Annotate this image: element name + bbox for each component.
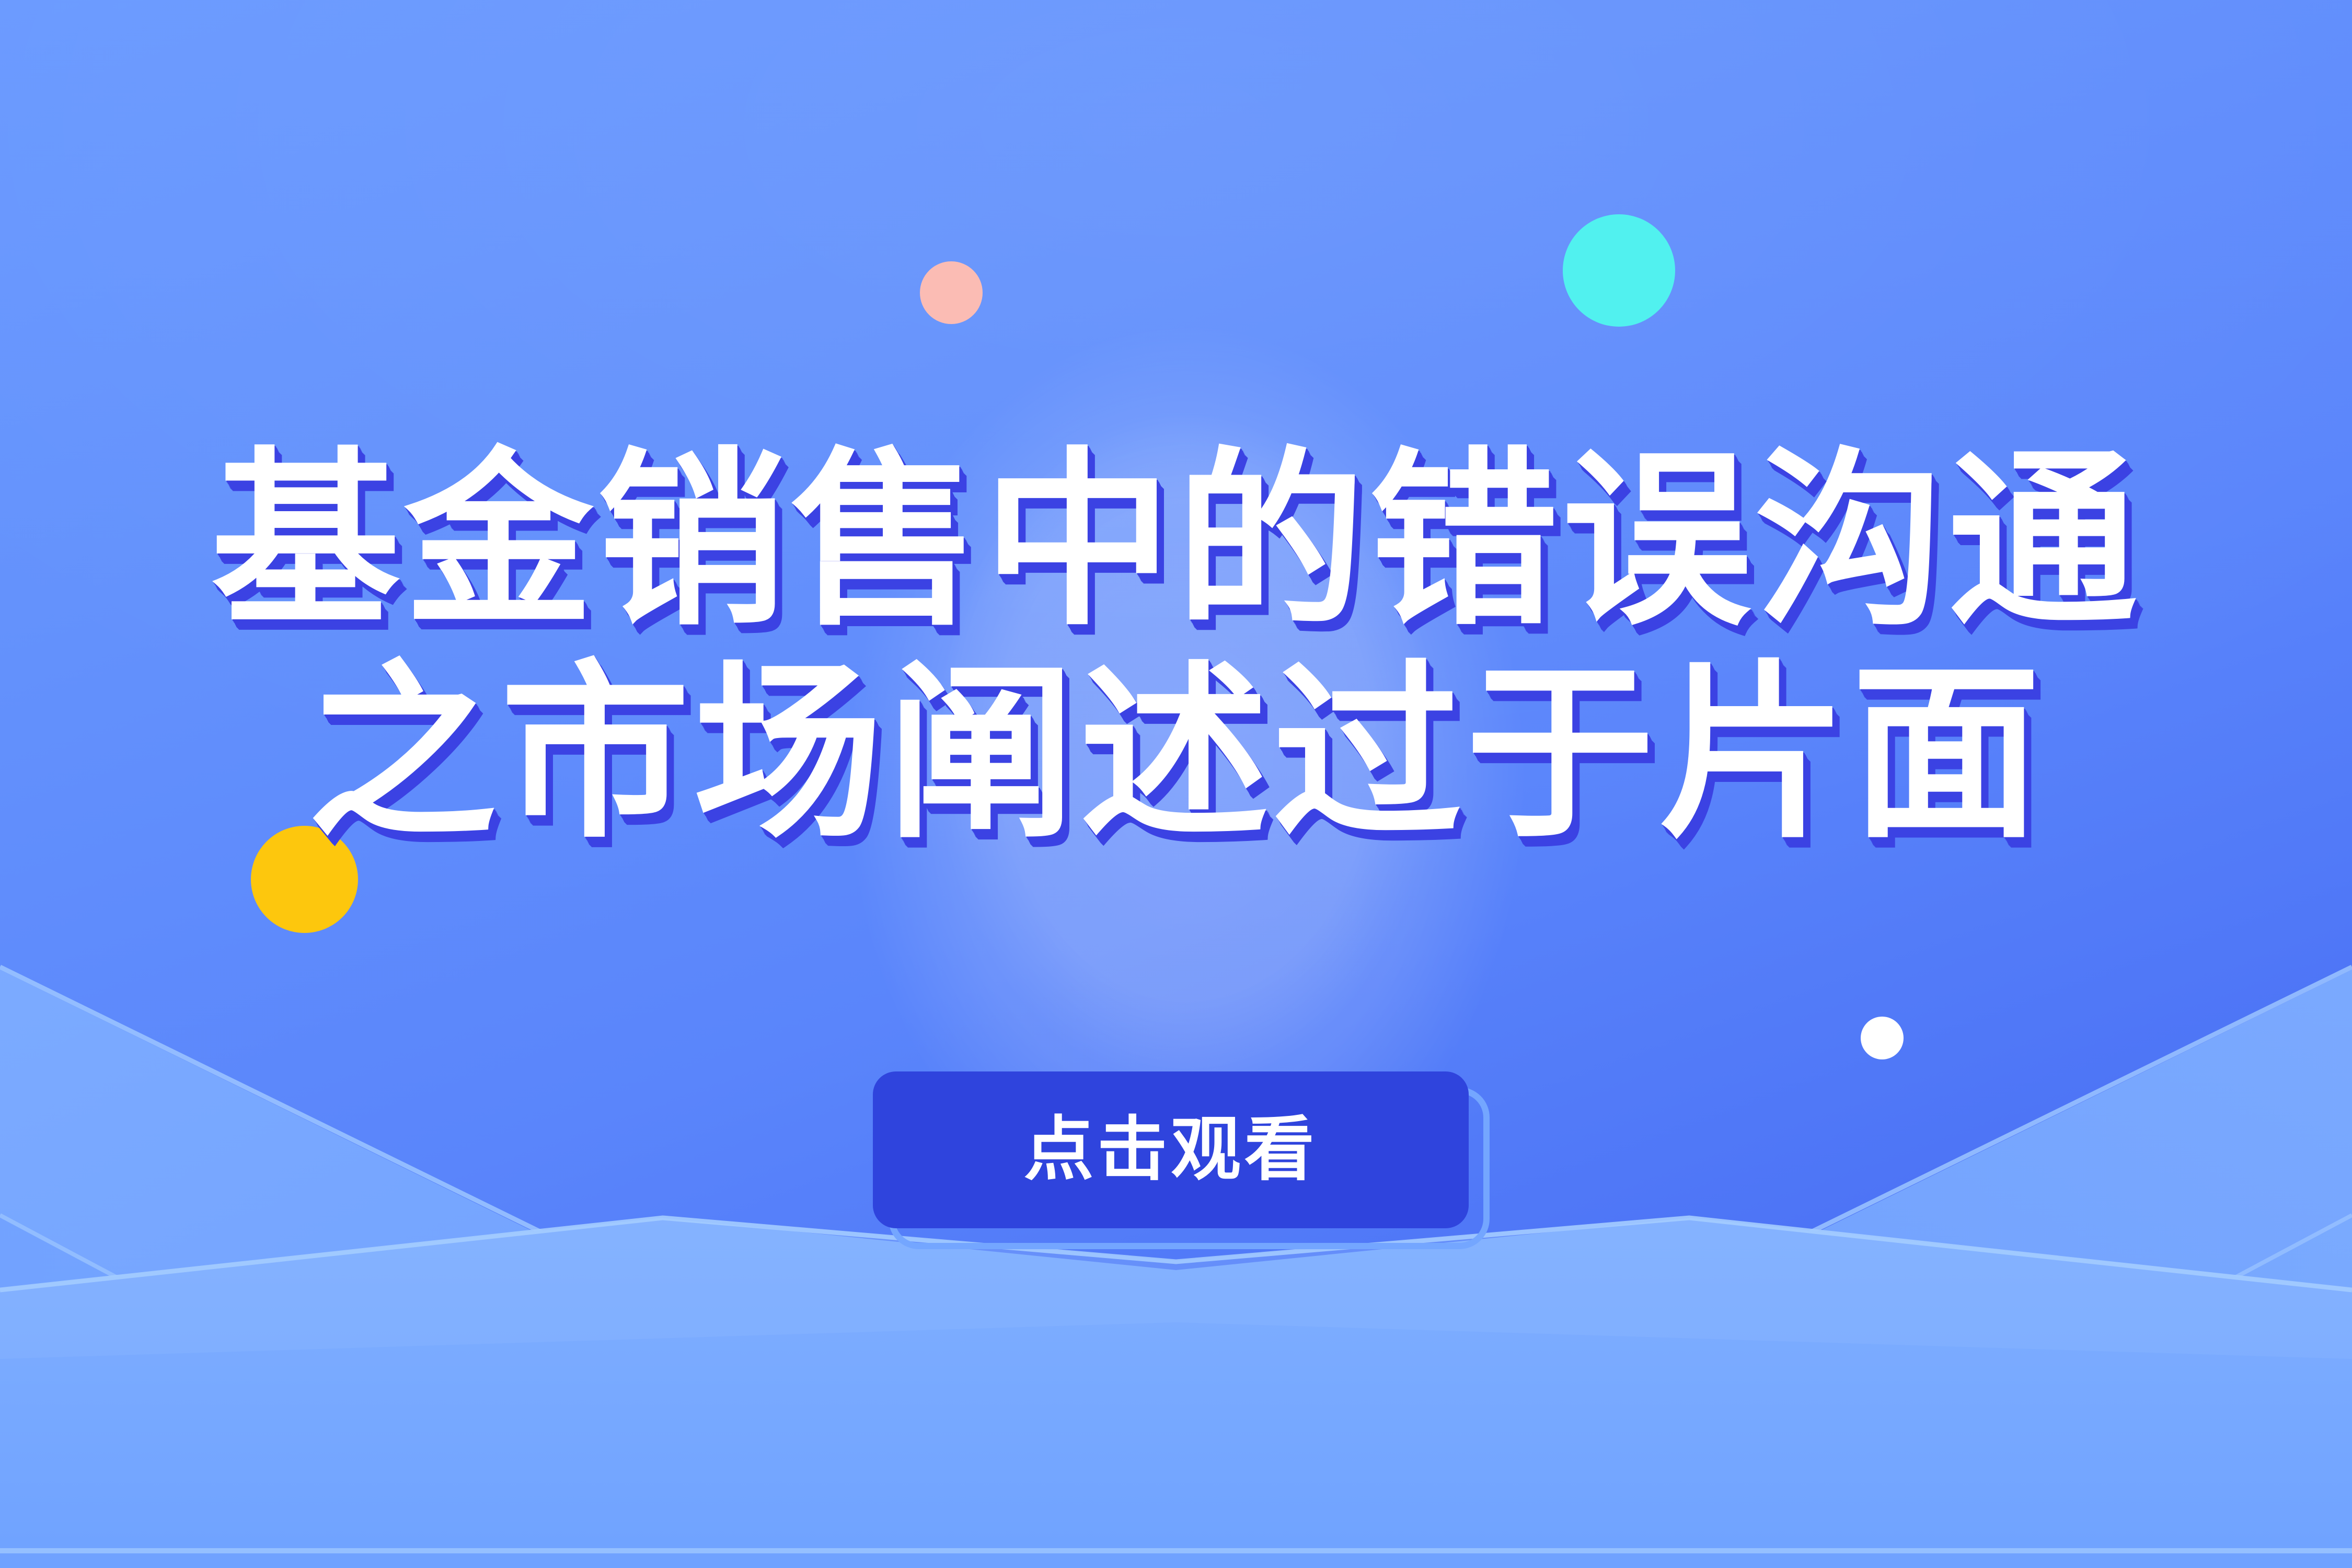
watch-button[interactable]: 点击观看 (873, 1071, 1511, 1265)
poster-canvas: 基金销售中的错误沟通 之市场阐述过于片面 点击观看 (0, 0, 2352, 1568)
pink-circle-icon (920, 261, 983, 324)
headline-line-2: 之市场阐述过于片面 (0, 657, 2352, 850)
white-dot-icon (1861, 1017, 1904, 1059)
headline-line-1: 基金销售中的错误沟通 (0, 444, 2352, 637)
envelope-bottom-rim (0, 1548, 2352, 1553)
watch-button-label: 点击观看 (1024, 1115, 1318, 1185)
poster-headline: 基金销售中的错误沟通 之市场阐述过于片面 (0, 444, 2352, 850)
watch-button-fill[interactable]: 点击观看 (873, 1071, 1469, 1228)
cyan-circle-icon (1563, 214, 1675, 327)
